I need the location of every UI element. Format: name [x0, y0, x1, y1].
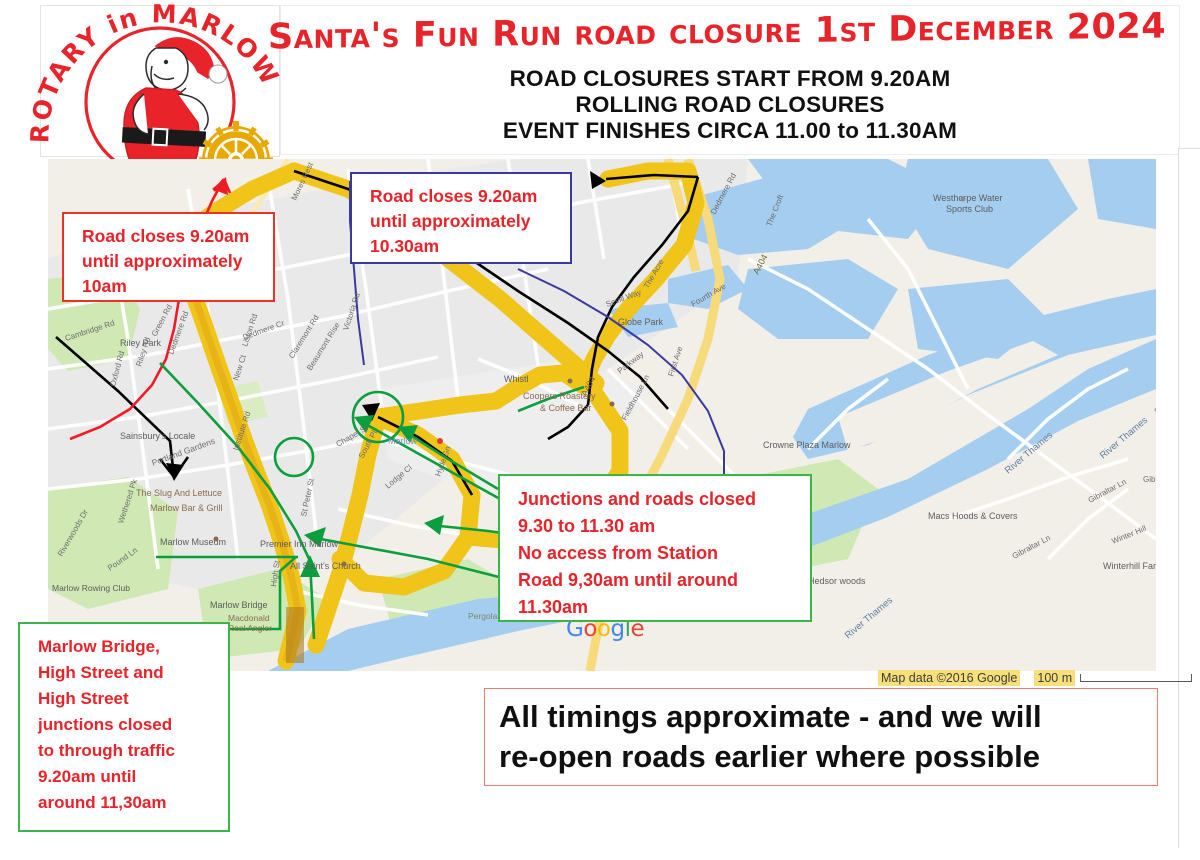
map-label: Whistl — [504, 374, 529, 384]
subtitle-block: ROAD CLOSURES START FROM 9.20AM ROLLING … — [300, 66, 1160, 144]
subtitle-line-1: ROAD CLOSURES START FROM 9.20AM — [300, 66, 1160, 92]
map-scale-label: 100 m — [1034, 670, 1075, 686]
subtitle-line-2: ROLLING ROAD CLOSURES — [300, 92, 1160, 118]
map-label: All Saint's Church — [290, 561, 361, 571]
callout-bridge-line-1: Marlow Bridge, — [38, 634, 216, 660]
map-label: Sports Club — [946, 204, 993, 214]
callout-road-closes-1030am: Road closes 9.20am until approximately 1… — [350, 172, 572, 264]
callout-top-line-2: until approximately — [370, 209, 558, 234]
map-label: Sainsbury's Locale — [120, 431, 195, 441]
map-label: & Coffee Bar — [540, 403, 591, 413]
callout-bridge-line-3: High Street — [38, 686, 216, 712]
poster-root: ROTARY in MARLOW Fun Run — [0, 0, 1200, 860]
page-title: Santa's Fun Run road closure 1st Decembe… — [268, 7, 1148, 58]
subtitle-line-3: EVENT FINISHES CIRCA 11.00 to 11.30AM — [300, 118, 1160, 144]
map-label: Coopers Roastery — [523, 391, 596, 401]
callout-junc-line-3: No access from Station — [518, 540, 798, 567]
callout-junc-line-1: Junctions and roads closed — [518, 486, 798, 513]
callout-marlow-bridge: Marlow Bridge, High Street and High Stre… — [18, 622, 230, 832]
map-label: Marlow Bar & Grill — [150, 503, 223, 513]
map-label: Marlow Rowing Club — [52, 583, 130, 593]
callout-left-line-2: until approximately — [82, 249, 261, 274]
callout-junctions-closed: Junctions and roads closed 9.30 to 11.30… — [498, 474, 812, 622]
map-label: Westhorpe Water — [933, 193, 1003, 203]
map-attribution-bar: Map data ©2016 Google 100 m — [878, 670, 1192, 686]
callout-bridge-line-4: junctions closed — [38, 712, 216, 738]
panel-edge-right — [1178, 148, 1200, 848]
map-label: Gibraltar Ln — [1143, 475, 1156, 484]
map-label: Hedsor woods — [808, 576, 866, 586]
banner-line-2: re-open roads earlier where possible — [499, 737, 1143, 777]
callout-junc-line-4: Road 9,30am until around — [518, 567, 798, 594]
map-label: The Slug And Lettuce — [136, 488, 222, 498]
map-scale-bar — [1080, 674, 1192, 682]
map-label: Premier Inn Marlow — [260, 539, 339, 549]
map-data-attribution: Map data ©2016 Google — [878, 670, 1020, 686]
callout-bridge-line-5: to through traffic — [38, 738, 216, 764]
callout-bridge-line-7: around 11,30am — [38, 790, 216, 816]
callout-bridge-line-2: High Street and — [38, 660, 216, 686]
callout-junc-line-5: 11.30am — [518, 594, 798, 621]
callout-top-line-1: Road closes 9.20am — [370, 184, 558, 209]
callout-road-closes-10am: Road closes 9.20am until approximately 1… — [62, 212, 275, 302]
map-label: Real Angler — [228, 623, 272, 633]
map-label: Macdonald — [228, 613, 270, 623]
map-label: Globe Park — [618, 317, 664, 327]
map-scale: 100 m — [1034, 670, 1192, 686]
map-label: Crowne Plaza Marlow — [763, 440, 851, 450]
map-label: Marlow — [388, 436, 418, 446]
callout-left-line-1: Road closes 9.20am — [82, 224, 261, 249]
map-label: Macs Hoods & Covers — [928, 511, 1018, 521]
banner-line-1: All timings approximate - and we will — [499, 697, 1143, 737]
map-label: Marlow Bridge — [210, 600, 268, 610]
callout-top-line-3: 10.30am — [370, 234, 558, 259]
map-label: Winterhill Farm — [1103, 561, 1156, 571]
callout-junc-line-2: 9.30 to 11.30 am — [518, 513, 798, 540]
callout-bridge-line-6: 9.20am until — [38, 764, 216, 790]
callout-left-line-3: 10am — [82, 274, 261, 299]
timings-approximate-banner: All timings approximate - and we will re… — [484, 688, 1158, 786]
